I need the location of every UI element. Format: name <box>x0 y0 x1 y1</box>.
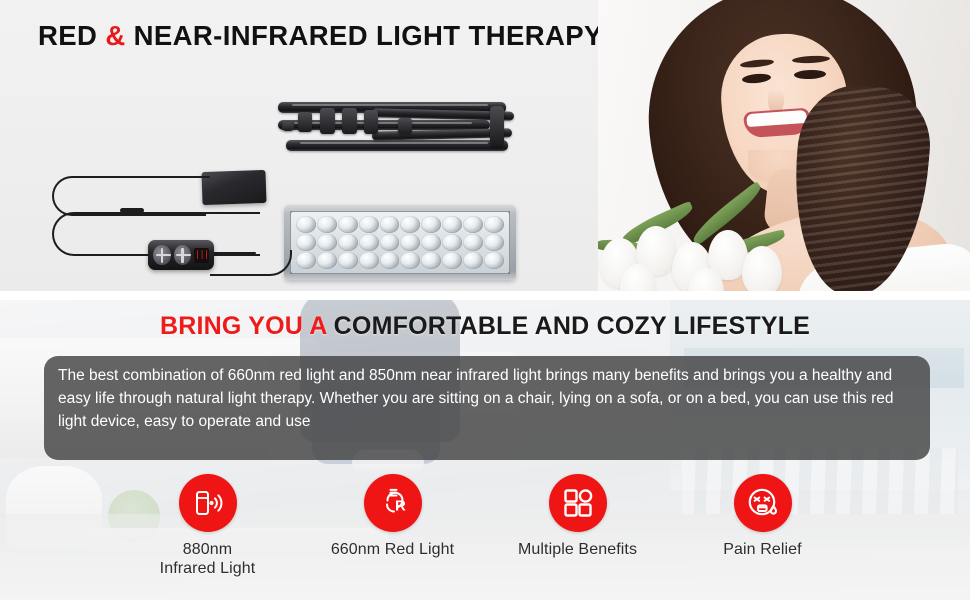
led-lens <box>463 234 483 251</box>
led-lens <box>421 234 441 251</box>
feature-item-benefits[interactable]: Multiple Benefits <box>485 474 670 578</box>
led-lens <box>359 216 379 233</box>
description-textbox: The best combination of 660nm red light … <box>44 356 930 460</box>
led-panel <box>284 205 516 280</box>
feature-label: 880nm Infrared Light <box>160 541 256 578</box>
cable-segment <box>196 176 210 178</box>
stand-clamp <box>342 108 357 134</box>
stand-foot <box>282 122 294 131</box>
led-lens <box>484 234 504 251</box>
stand-joint <box>490 106 504 146</box>
tulip-flower <box>742 246 782 291</box>
section-divider <box>0 291 970 300</box>
led-lens <box>359 252 379 269</box>
led-lens <box>296 252 316 269</box>
led-lens <box>338 216 358 233</box>
controller-dpad-icon[interactable] <box>174 245 192 265</box>
grid-blocks-icon <box>549 474 607 532</box>
inline-controller[interactable]: ||| <box>148 240 214 270</box>
stand-clamp <box>320 108 335 134</box>
bottom-section: BRING YOU A COMFORTABLE AND COZY LIFESTY… <box>0 300 970 600</box>
led-lens <box>380 252 400 269</box>
feature-item-infrared[interactable]: 880nm Infrared Light <box>115 474 300 578</box>
subtitle-red-part: BRING YOU A <box>160 312 327 340</box>
top-section: RED & NEAR-INFRARED LIGHT THERAPY PANEL <box>0 0 970 291</box>
led-lens <box>296 234 316 251</box>
led-lens <box>380 234 400 251</box>
led-lens <box>317 252 337 269</box>
led-lens <box>380 216 400 233</box>
led-lens <box>338 252 358 269</box>
feature-item-pain-relief[interactable]: Pain Relief <box>670 474 855 578</box>
subtitle-black-part: COMFORTABLE AND COZY LIFESTYLE <box>327 312 811 340</box>
led-lens <box>400 234 420 251</box>
led-lens <box>442 216 462 233</box>
led-lens <box>442 252 462 269</box>
description-paragraph: The best combination of 660nm red light … <box>58 367 894 430</box>
led-lens <box>463 252 483 269</box>
controller-digits: ||| <box>195 250 208 260</box>
led-lens <box>317 216 337 233</box>
led-lens <box>296 216 316 233</box>
section-subtitle: BRING YOU A COMFORTABLE AND COZY LIFESTY… <box>0 312 970 341</box>
stand-highlight <box>292 104 488 106</box>
stand-hinge <box>398 118 412 134</box>
led-lens <box>421 216 441 233</box>
led-lens <box>400 216 420 233</box>
page-title-part1: RED <box>38 20 105 51</box>
led-lens <box>421 252 441 269</box>
stand-highlight <box>300 142 488 144</box>
model-photo <box>598 0 970 291</box>
feature-label: Multiple Benefits <box>518 541 637 560</box>
led-lens <box>484 216 504 233</box>
stand-clamp <box>298 112 312 132</box>
cable-to-panel <box>210 250 292 276</box>
controller-dpad-icon[interactable] <box>153 245 171 265</box>
led-lens <box>442 234 462 251</box>
led-lens <box>359 234 379 251</box>
tulip-bouquet <box>598 212 808 291</box>
feature-label: 660nm Red Light <box>331 541 454 560</box>
led-lens <box>484 252 504 269</box>
feature-list: 880nm Infrared Light R 660nm Red Light <box>0 474 970 578</box>
svg-text:R: R <box>395 498 406 515</box>
led-lens <box>463 216 483 233</box>
infrared-panel-waves-icon <box>179 474 237 532</box>
model-teeth <box>746 110 807 127</box>
pain-face-teardrop-icon <box>734 474 792 532</box>
stand-clamp <box>364 110 378 134</box>
feature-label: Pain Relief <box>723 541 801 560</box>
power-adapter-brick <box>201 170 266 205</box>
product-marketing-page: RED & NEAR-INFRARED LIGHT THERAPY PANEL <box>0 0 970 600</box>
controller-display: ||| <box>194 248 209 263</box>
led-grid <box>290 211 510 274</box>
tripod-stand <box>276 96 516 170</box>
led-lens <box>317 234 337 251</box>
page-title-ampersand: & <box>105 20 125 51</box>
red-light-bulb-icon: R <box>364 474 422 532</box>
led-lens <box>400 252 420 269</box>
cable-connector <box>120 208 144 213</box>
led-lens <box>338 234 358 251</box>
feature-item-red-light[interactable]: R 660nm Red Light <box>300 474 485 578</box>
